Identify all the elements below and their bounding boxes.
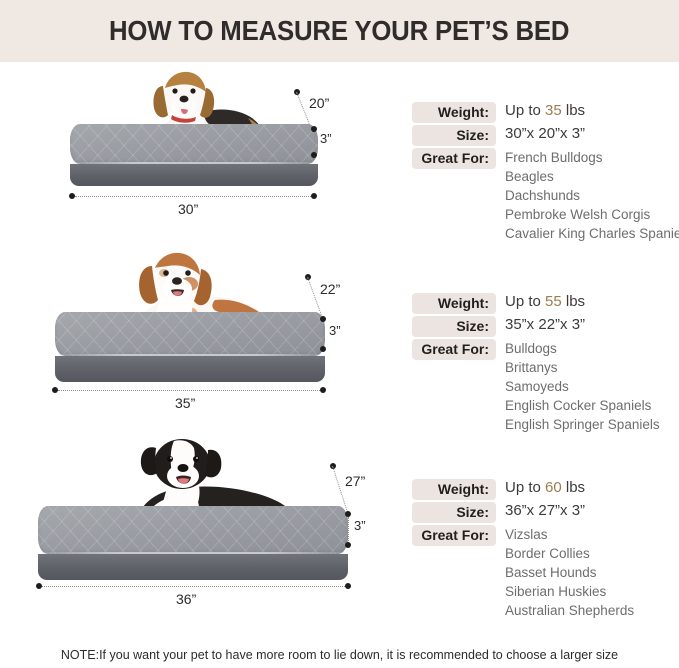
page-title: HOW TO MEASURE YOUR PET’S BED [109, 15, 569, 47]
breed-list-large: Vizslas Border Collies Basset Hounds Sib… [496, 525, 634, 620]
bed-top-surface [38, 506, 348, 554]
bed-top-surface [55, 312, 325, 356]
list-item: Cavalier King Charles Spaniels [505, 224, 679, 243]
spec-row-size: Size: 36”x 27”x 3” [412, 502, 674, 523]
list-item: Brittanys [505, 358, 660, 377]
weight-prefix: Up to [505, 479, 545, 496]
bed-illustration-large [38, 466, 350, 588]
dim-label-width: 35” [175, 395, 195, 411]
spec-label-weight: Weight: [412, 102, 496, 123]
spec-label-size: Size: [412, 502, 496, 523]
dim-dot-width-right [311, 193, 317, 199]
breed-list-medium: Bulldogs Brittanys Samoyeds English Cock… [496, 339, 660, 434]
dim-label-depth: 20” [309, 95, 329, 111]
size-section-medium: 22” 3” 35” Weight: Up to 55 lbs Size: 35… [0, 254, 679, 444]
list-item: Pembroke Welsh Corgis [505, 205, 679, 224]
breed-list-small: French Bulldogs Beagles Dachshunds Pembr… [496, 148, 679, 243]
bed-illustration-medium [55, 276, 327, 394]
spec-value-weight: Up to 60 lbs [496, 479, 585, 497]
spec-panel-small: Weight: Up to 35 lbs Size: 30”x 20”x 3” … [412, 102, 674, 245]
list-item: English Springer Spaniels [505, 415, 660, 434]
bed-side-panel [38, 554, 348, 580]
dim-line-height [323, 322, 324, 349]
dim-dot-width-right [345, 583, 351, 589]
size-section-large: 27” 3” 36” Weight: Up to 60 lbs Size: 36… [0, 444, 679, 640]
list-item: French Bulldogs [505, 148, 679, 167]
weight-suffix: lbs [562, 293, 585, 310]
weight-prefix: Up to [505, 293, 545, 310]
size-section-small: 20” 3” 30” Weight: Up to 35 lbs Size: 30… [0, 62, 679, 254]
spec-row-great-for: Great For: Vizslas Border Collies Basset… [412, 525, 674, 620]
dim-label-height: 3” [329, 323, 341, 338]
list-item: Bulldogs [505, 339, 660, 358]
dim-dot-width-right [320, 387, 326, 393]
bed-top-surface [70, 124, 318, 164]
spec-row-weight: Weight: Up to 55 lbs [412, 293, 674, 314]
spec-label-weight: Weight: [412, 293, 496, 314]
spec-row-weight: Weight: Up to 60 lbs [412, 479, 674, 500]
dim-dot-height-bottom [311, 152, 317, 158]
dim-line-height [348, 517, 349, 545]
dim-label-height: 3” [354, 518, 366, 533]
bed-illustration-small [70, 90, 320, 200]
pet-bed-medium [55, 312, 325, 382]
list-item: Border Collies [505, 544, 634, 563]
dim-label-depth: 27” [345, 473, 365, 489]
spec-row-great-for: Great For: French Bulldogs Beagles Dachs… [412, 148, 674, 243]
spec-label-size: Size: [412, 316, 496, 337]
list-item: Beagles [505, 167, 679, 186]
dim-label-depth: 22” [320, 281, 340, 297]
spec-value-size: 35”x 22”x 3” [496, 316, 585, 334]
spec-value-weight: Up to 55 lbs [496, 293, 585, 311]
dim-dot-height-bottom [345, 542, 351, 548]
dim-label-width: 36” [176, 591, 196, 607]
pet-bed-large [38, 506, 348, 580]
pet-bed-small [70, 124, 318, 186]
dim-dot-height-bottom [320, 346, 326, 352]
spec-row-great-for: Great For: Bulldogs Brittanys Samoyeds E… [412, 339, 674, 434]
spec-label-great-for: Great For: [412, 525, 496, 546]
spec-value-size: 36”x 27”x 3” [496, 502, 585, 520]
list-item: Dachshunds [505, 186, 679, 205]
bed-side-panel [55, 356, 325, 382]
list-item: Australian Shepherds [505, 601, 634, 620]
list-item: Vizslas [505, 525, 634, 544]
spec-label-great-for: Great For: [412, 148, 496, 169]
dim-line-width [75, 196, 311, 197]
header-band: HOW TO MEASURE YOUR PET’S BED [0, 0, 679, 62]
spec-value-size: 30”x 20”x 3” [496, 125, 585, 143]
spec-label-great-for: Great For: [412, 339, 496, 360]
weight-number: 55 [545, 293, 562, 310]
dim-label-height: 3” [320, 131, 332, 146]
list-item: Samoyeds [505, 377, 660, 396]
spec-label-size: Size: [412, 125, 496, 146]
spec-panel-medium: Weight: Up to 55 lbs Size: 35”x 22”x 3” … [412, 293, 674, 436]
weight-number: 35 [545, 102, 562, 119]
dim-label-width: 30” [178, 201, 198, 217]
list-item: English Cocker Spaniels [505, 396, 660, 415]
weight-suffix: lbs [562, 479, 585, 496]
footer-note: NOTE:If you want your pet to have more r… [0, 648, 679, 662]
spec-panel-large: Weight: Up to 60 lbs Size: 36”x 27”x 3” … [412, 479, 674, 622]
spec-label-weight: Weight: [412, 479, 496, 500]
spec-row-weight: Weight: Up to 35 lbs [412, 102, 674, 123]
dim-line-width [42, 586, 345, 587]
weight-number: 60 [545, 479, 562, 496]
weight-suffix: lbs [562, 102, 585, 119]
bed-side-panel [70, 164, 318, 186]
weight-prefix: Up to [505, 102, 545, 119]
list-item: Siberian Huskies [505, 582, 634, 601]
spec-row-size: Size: 35”x 22”x 3” [412, 316, 674, 337]
list-item: Basset Hounds [505, 563, 634, 582]
spec-value-weight: Up to 35 lbs [496, 102, 585, 120]
dim-line-width [58, 390, 320, 391]
spec-row-size: Size: 30”x 20”x 3” [412, 125, 674, 146]
